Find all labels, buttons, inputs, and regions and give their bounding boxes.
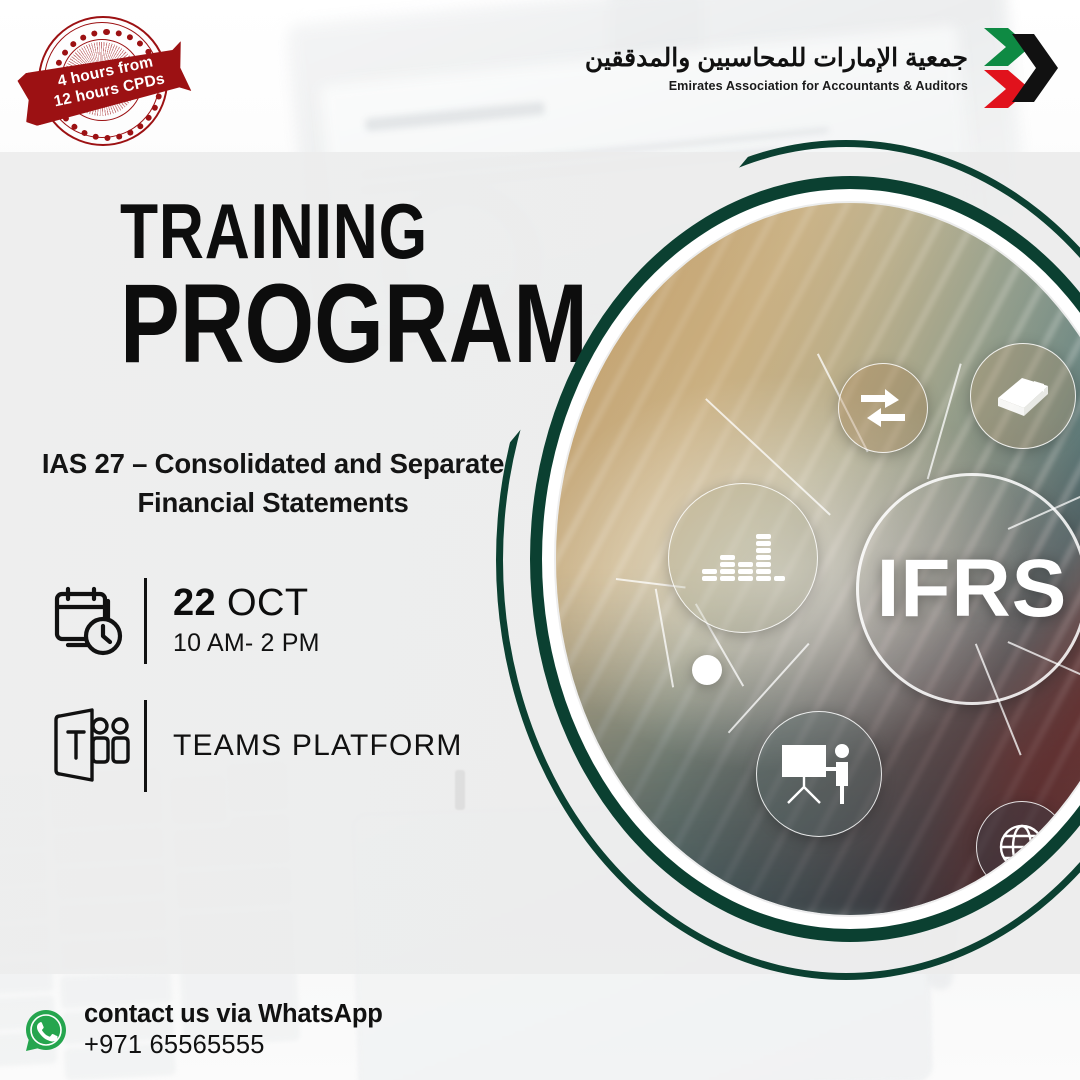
- ifrs-label: IFRS: [877, 542, 1068, 636]
- course-subtitle: IAS 27 – Consolidated and Separate Finan…: [28, 444, 518, 522]
- chevron-icon: [978, 26, 1060, 110]
- schedule-date: 22 OCT: [173, 584, 320, 624]
- bar-chart-icon: [668, 483, 818, 633]
- logo-chevron-mark: [978, 26, 1060, 110]
- exchange-arrows-icon: [838, 363, 928, 453]
- contact-text: contact us via WhatsApp +971 65565555: [84, 1000, 383, 1060]
- logo-wordmark: جمعية الإمارات للمحاسبين والمدققين Emira…: [585, 43, 978, 92]
- contact-label: contact us via WhatsApp: [84, 1000, 383, 1029]
- photo-disc: IFRS: [556, 203, 1080, 915]
- logo-arabic-name: جمعية الإمارات للمحاسبين والمدققين: [585, 43, 968, 74]
- microsoft-teams-icon: [48, 706, 144, 786]
- row-divider: [144, 700, 147, 792]
- platform-row: TEAMS PLATFORM: [48, 700, 463, 792]
- platform-label: TEAMS PLATFORM: [173, 729, 463, 763]
- schedule-day: 22: [173, 582, 216, 624]
- globe-icon: [976, 801, 1068, 893]
- book-icon: [970, 343, 1076, 449]
- ifrs-circle-graphic: IFRS: [496, 140, 1080, 980]
- schedule-month: OCT: [227, 582, 308, 624]
- schedule-text: 22 OCT 10 AM- 2 PM: [173, 584, 320, 658]
- ifrs-center-node: IFRS: [856, 473, 1080, 705]
- poster-canvas: 4 hours from 12 hours CPDs جمعية الإمارا…: [0, 0, 1080, 1080]
- logo-english-name: Emirates Association for Accountants & A…: [585, 79, 968, 93]
- whatsapp-icon[interactable]: [22, 1006, 70, 1054]
- calendar-clock-icon: [48, 579, 144, 663]
- node-dot: [692, 655, 722, 685]
- presentation-icon: [756, 711, 882, 837]
- row-divider: [144, 578, 147, 664]
- contact-phone[interactable]: +971 65565555: [84, 1031, 383, 1060]
- title-line-program: PROGRAM: [120, 272, 488, 375]
- association-logo: جمعية الإمارات للمحاسبين والمدققين Emira…: [700, 22, 1060, 114]
- schedule-row: 22 OCT 10 AM- 2 PM: [48, 578, 320, 664]
- schedule-time: 10 AM- 2 PM: [173, 629, 320, 658]
- contact-block[interactable]: contact us via WhatsApp +971 65565555: [22, 1000, 383, 1060]
- cpd-hours-badge: 4 hours from 12 hours CPDs: [24, 10, 184, 150]
- title-line-training: TRAINING: [120, 196, 488, 268]
